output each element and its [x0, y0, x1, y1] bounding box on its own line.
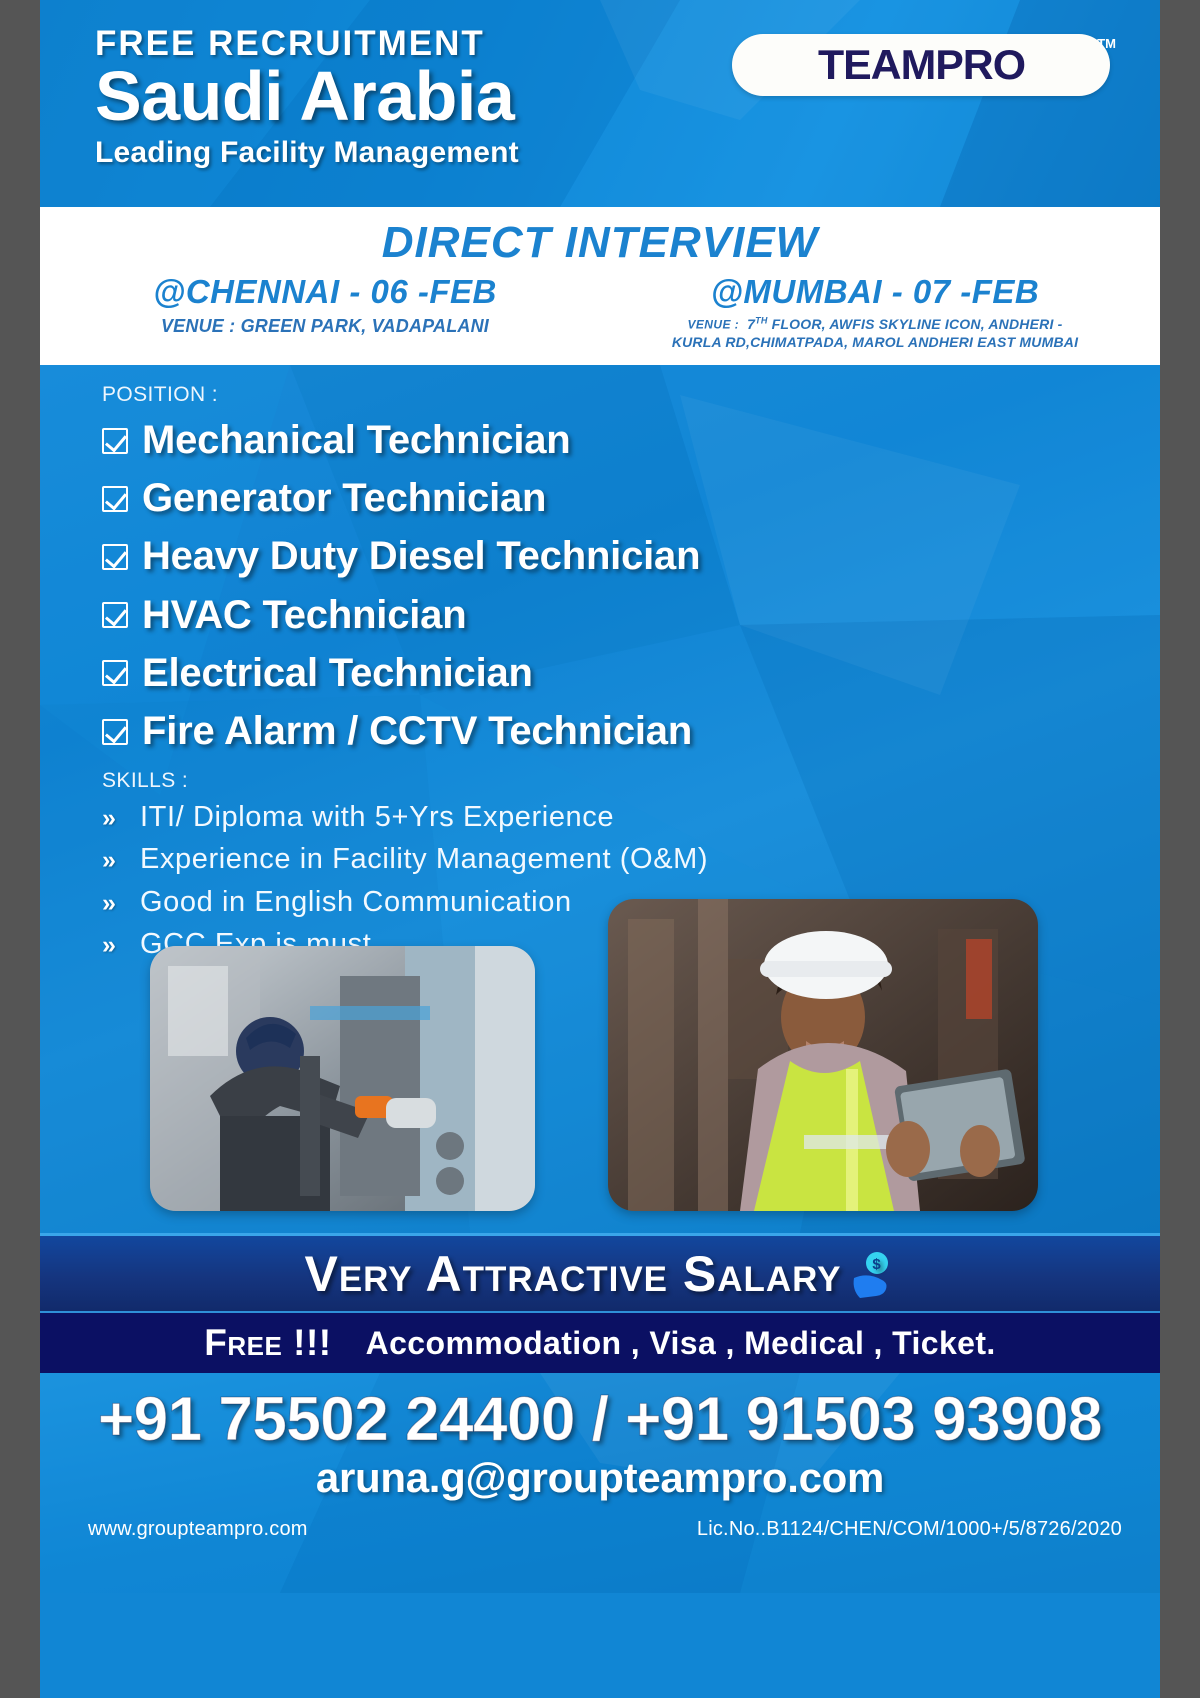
position-list: Mechanical Technician Generator Technici… — [102, 413, 1160, 759]
city-mumbai-venue: VENUE : 7TH FLOOR, AWFIS SKYLINE ICON, A… — [600, 315, 1150, 351]
city-chennai: @CHENNAI - 06 -FEB VENUE : GREEN PARK, V… — [50, 273, 600, 351]
position-label-text: Mechanical Technician — [142, 413, 571, 468]
website-link[interactable]: www.groupteampro.com — [88, 1518, 308, 1541]
position-label-text: HVAC Technician — [142, 588, 466, 643]
city-list: @CHENNAI - 06 -FEB VENUE : GREEN PARK, V… — [40, 273, 1160, 351]
position-item: Electrical Technician — [102, 646, 1160, 701]
venue-line-2: KURLA RD,CHIMATPADA, MAROL ANDHERI EAST … — [600, 334, 1150, 352]
position-item: HVAC Technician — [102, 588, 1160, 643]
city-chennai-venue: VENUE : GREEN PARK, VADAPALANI — [50, 316, 600, 337]
benefits-list: Accommodation , Visa , Medical , Ticket. — [366, 1325, 996, 1362]
phone-numbers[interactable]: +91 75502 24400 / +91 91503 93908 — [40, 1387, 1160, 1452]
interview-banner: DIRECT INTERVIEW @CHENNAI - 06 -FEB VENU… — [40, 207, 1160, 365]
position-item: Mechanical Technician — [102, 413, 1160, 468]
trademark-icon: TM — [1097, 36, 1116, 51]
email-address[interactable]: aruna.g@groupteampro.com — [40, 1454, 1160, 1502]
free-label: Free !!! — [204, 1322, 331, 1364]
contact-section: +91 75502 24400 / +91 91503 93908 aruna.… — [40, 1373, 1160, 1593]
svg-text:$: $ — [872, 1256, 881, 1273]
recruitment-poster: FREE RECRUITMENT Saudi Arabia Leading Fa… — [40, 0, 1160, 1698]
position-label-text: Generator Technician — [142, 471, 546, 526]
position-item: Generator Technician — [102, 471, 1160, 526]
salary-label: Very Attractive Salary — [304, 1245, 841, 1303]
company-tagline: Leading Facility Management — [95, 136, 1160, 170]
position-item: Fire Alarm / CCTV Technician — [102, 704, 1160, 759]
salary-text: Very Attractive Salary $ — [304, 1245, 895, 1303]
benefits-bar: Free !!! Accommodation , Visa , Medical … — [40, 1311, 1160, 1373]
position-label: POSITION : — [102, 383, 1160, 407]
checkbox-icon — [102, 544, 128, 570]
position-label-text: Electrical Technician — [142, 646, 533, 701]
city-chennai-title: @CHENNAI - 06 -FEB — [50, 273, 600, 311]
double-chevron-icon: » — [102, 806, 124, 831]
skills-label: SKILLS : — [102, 769, 1160, 793]
photo-mechanic — [150, 946, 535, 1211]
photo-strip — [40, 865, 1160, 1233]
city-mumbai-title: @MUMBAI - 07 -FEB — [600, 273, 1150, 311]
venue-line-1: 7TH FLOOR, AWFIS SKYLINE ICON, ANDHERI - — [747, 316, 1062, 332]
footer-row: www.groupteampro.com Lic.No..B1124/CHEN/… — [40, 1502, 1160, 1541]
teampro-logo: TEAMPRO — [732, 34, 1110, 96]
direct-interview-heading: DIRECT INTERVIEW — [40, 219, 1160, 267]
photo-engineer — [608, 899, 1038, 1211]
poster-header: FREE RECRUITMENT Saudi Arabia Leading Fa… — [40, 0, 1160, 207]
checkbox-icon — [102, 602, 128, 628]
checkbox-icon — [102, 660, 128, 686]
checkbox-icon — [102, 719, 128, 745]
checkbox-icon — [102, 486, 128, 512]
position-item: Heavy Duty Diesel Technician — [102, 529, 1160, 584]
salary-bar: Very Attractive Salary $ — [40, 1233, 1160, 1311]
money-in-hand-icon: $ — [844, 1248, 896, 1300]
license-number: Lic.No..B1124/CHEN/COM/1000+/5/8726/2020 — [697, 1518, 1122, 1541]
poster-body: POSITION : Mechanical Technician Generat… — [40, 365, 1160, 1233]
venue-line: GREEN PARK, VADAPALANI — [241, 316, 489, 336]
position-label-text: Heavy Duty Diesel Technician — [142, 529, 700, 584]
logo-wordmark: TEAMPRO — [817, 44, 1024, 86]
checkbox-icon — [102, 428, 128, 454]
skill-text: ITI/ Diploma with 5+Yrs Experience — [140, 799, 614, 835]
city-mumbai: @MUMBAI - 07 -FEB VENUE : 7TH FLOOR, AWF… — [600, 273, 1150, 351]
skill-item: » ITI/ Diploma with 5+Yrs Experience — [102, 799, 1160, 835]
venue-label: VENUE : — [688, 318, 739, 332]
venue-label: VENUE : — [161, 316, 235, 336]
position-label-text: Fire Alarm / CCTV Technician — [142, 704, 692, 759]
